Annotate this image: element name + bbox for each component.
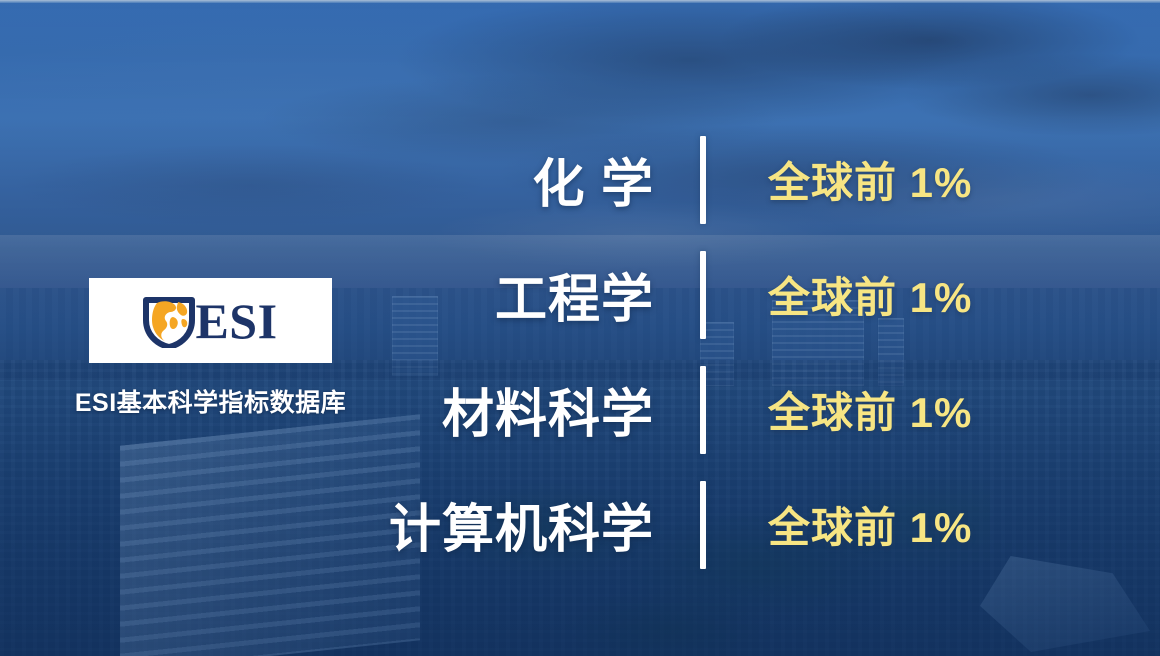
- slide-canvas: ESI ESI基本科学指标数据库 化 学 全球前 1% 工程学 全球前 1% 材…: [0, 0, 1160, 656]
- discipline-row: 计算机科学 全球前 1%: [330, 467, 1090, 582]
- discipline-rank: 全球前 1%: [706, 264, 1090, 325]
- discipline-name: 化 学: [330, 142, 700, 217]
- esi-caption: ESI基本科学指标数据库: [44, 383, 377, 419]
- esi-logo-box: ESI: [89, 278, 332, 363]
- discipline-row: 工程学 全球前 1%: [330, 237, 1090, 352]
- slide-content: ESI ESI基本科学指标数据库 化 学 全球前 1% 工程学 全球前 1% 材…: [0, 0, 1160, 656]
- discipline-row: 材料科学 全球前 1%: [330, 352, 1090, 467]
- esi-brand-block: ESI ESI基本科学指标数据库: [44, 278, 377, 419]
- discipline-rank: 全球前 1%: [706, 149, 1090, 210]
- discipline-name: 工程学: [330, 257, 700, 332]
- discipline-rank: 全球前 1%: [706, 379, 1090, 440]
- discipline-name: 材料科学: [330, 372, 700, 447]
- discipline-name: 计算机科学: [330, 487, 700, 562]
- discipline-list: 化 学 全球前 1% 工程学 全球前 1% 材料科学 全球前 1% 计算机科学 …: [330, 122, 1090, 582]
- esi-globe-shield-icon: [143, 294, 195, 348]
- discipline-row: 化 学 全球前 1%: [330, 122, 1090, 237]
- esi-wordmark: ESI: [195, 296, 277, 346]
- discipline-rank: 全球前 1%: [706, 494, 1090, 555]
